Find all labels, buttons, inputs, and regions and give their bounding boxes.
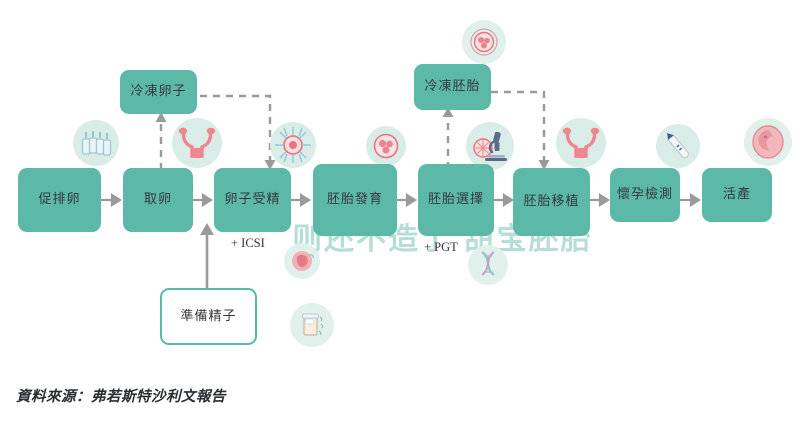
- step-label: 胚胎發育: [327, 192, 383, 208]
- connector-sperm-prep-to-fertilization: [196, 222, 218, 296]
- embryo-cell-icon: [366, 126, 406, 166]
- step-label: 卵子受精: [224, 192, 280, 208]
- fertilized-egg-icon: [284, 243, 320, 279]
- arrow-step-2-to-3: [192, 193, 214, 207]
- step-box-live-birth[interactable]: 活產: [702, 168, 772, 222]
- branch-label: 準備精子: [180, 309, 236, 325]
- branch-label: 冷凍胚胎: [424, 79, 480, 95]
- step-box-pregnancy-test[interactable]: 懷孕檢測: [610, 168, 680, 222]
- step-box-egg-fertilization[interactable]: 卵子受精: [214, 168, 291, 232]
- step-label: 懷孕檢測: [617, 187, 673, 203]
- annotation-pgt: + PGT: [424, 240, 458, 255]
- arrow-step-1-to-2: [101, 193, 123, 207]
- connector-egg-retrieval-to-frozen-eggs: [150, 110, 172, 172]
- step-label: 取卵: [144, 192, 172, 208]
- source-note: 資料來源：弗若斯特沙利文報告: [16, 385, 226, 406]
- step-box-embryo-selection[interactable]: 胚胎選擇: [418, 164, 494, 236]
- syringes-icon: [73, 120, 119, 166]
- step-box-egg-retrieval[interactable]: 取卵: [123, 168, 193, 232]
- step-box-embryo-transfer[interactable]: 胚胎移植: [513, 168, 590, 236]
- step-label: 活產: [723, 187, 751, 203]
- step-label: 胚胎移植: [523, 194, 579, 210]
- step-box-ovarian-stimulation[interactable]: 促排卵: [18, 168, 101, 232]
- branch-label: 冷凍卵子: [130, 84, 186, 100]
- step-label: 促排卵: [38, 192, 80, 208]
- arrow-step-7-to-8: [680, 193, 702, 207]
- fetus-icon: [744, 118, 792, 166]
- frozen-embryo-icon: [462, 20, 506, 64]
- pregnancy-test-stick-icon: [656, 124, 700, 168]
- arrow-step-5-to-6: [493, 193, 515, 207]
- dna-helix-icon: [468, 245, 508, 285]
- branch-box-sperm-preparation[interactable]: 準備精子: [160, 288, 257, 345]
- connector-embryo-selection-to-frozen-embryos: [437, 105, 459, 171]
- uterus-icon: [172, 118, 222, 168]
- arrow-step-4-to-5: [396, 193, 418, 207]
- semen-sample-cup-icon: [290, 303, 334, 347]
- annotation-icsi: + ICSI: [231, 236, 265, 251]
- branch-box-frozen-embryos[interactable]: 冷凍胚胎: [414, 64, 491, 110]
- branch-box-frozen-eggs[interactable]: 冷凍卵子: [120, 70, 197, 114]
- arrow-step-6-to-7: [589, 193, 611, 207]
- ivf-process-diagram: 则还不造了 甜宝胚胎: [0, 0, 807, 426]
- arrow-step-3-to-4: [290, 193, 312, 207]
- uterus-icon: [556, 118, 606, 168]
- step-box-embryo-development[interactable]: 胚胎發育: [313, 164, 397, 236]
- sperm-around-egg-icon: [270, 122, 316, 168]
- step-label: 胚胎選擇: [428, 192, 484, 208]
- microscope-icon: [466, 122, 514, 170]
